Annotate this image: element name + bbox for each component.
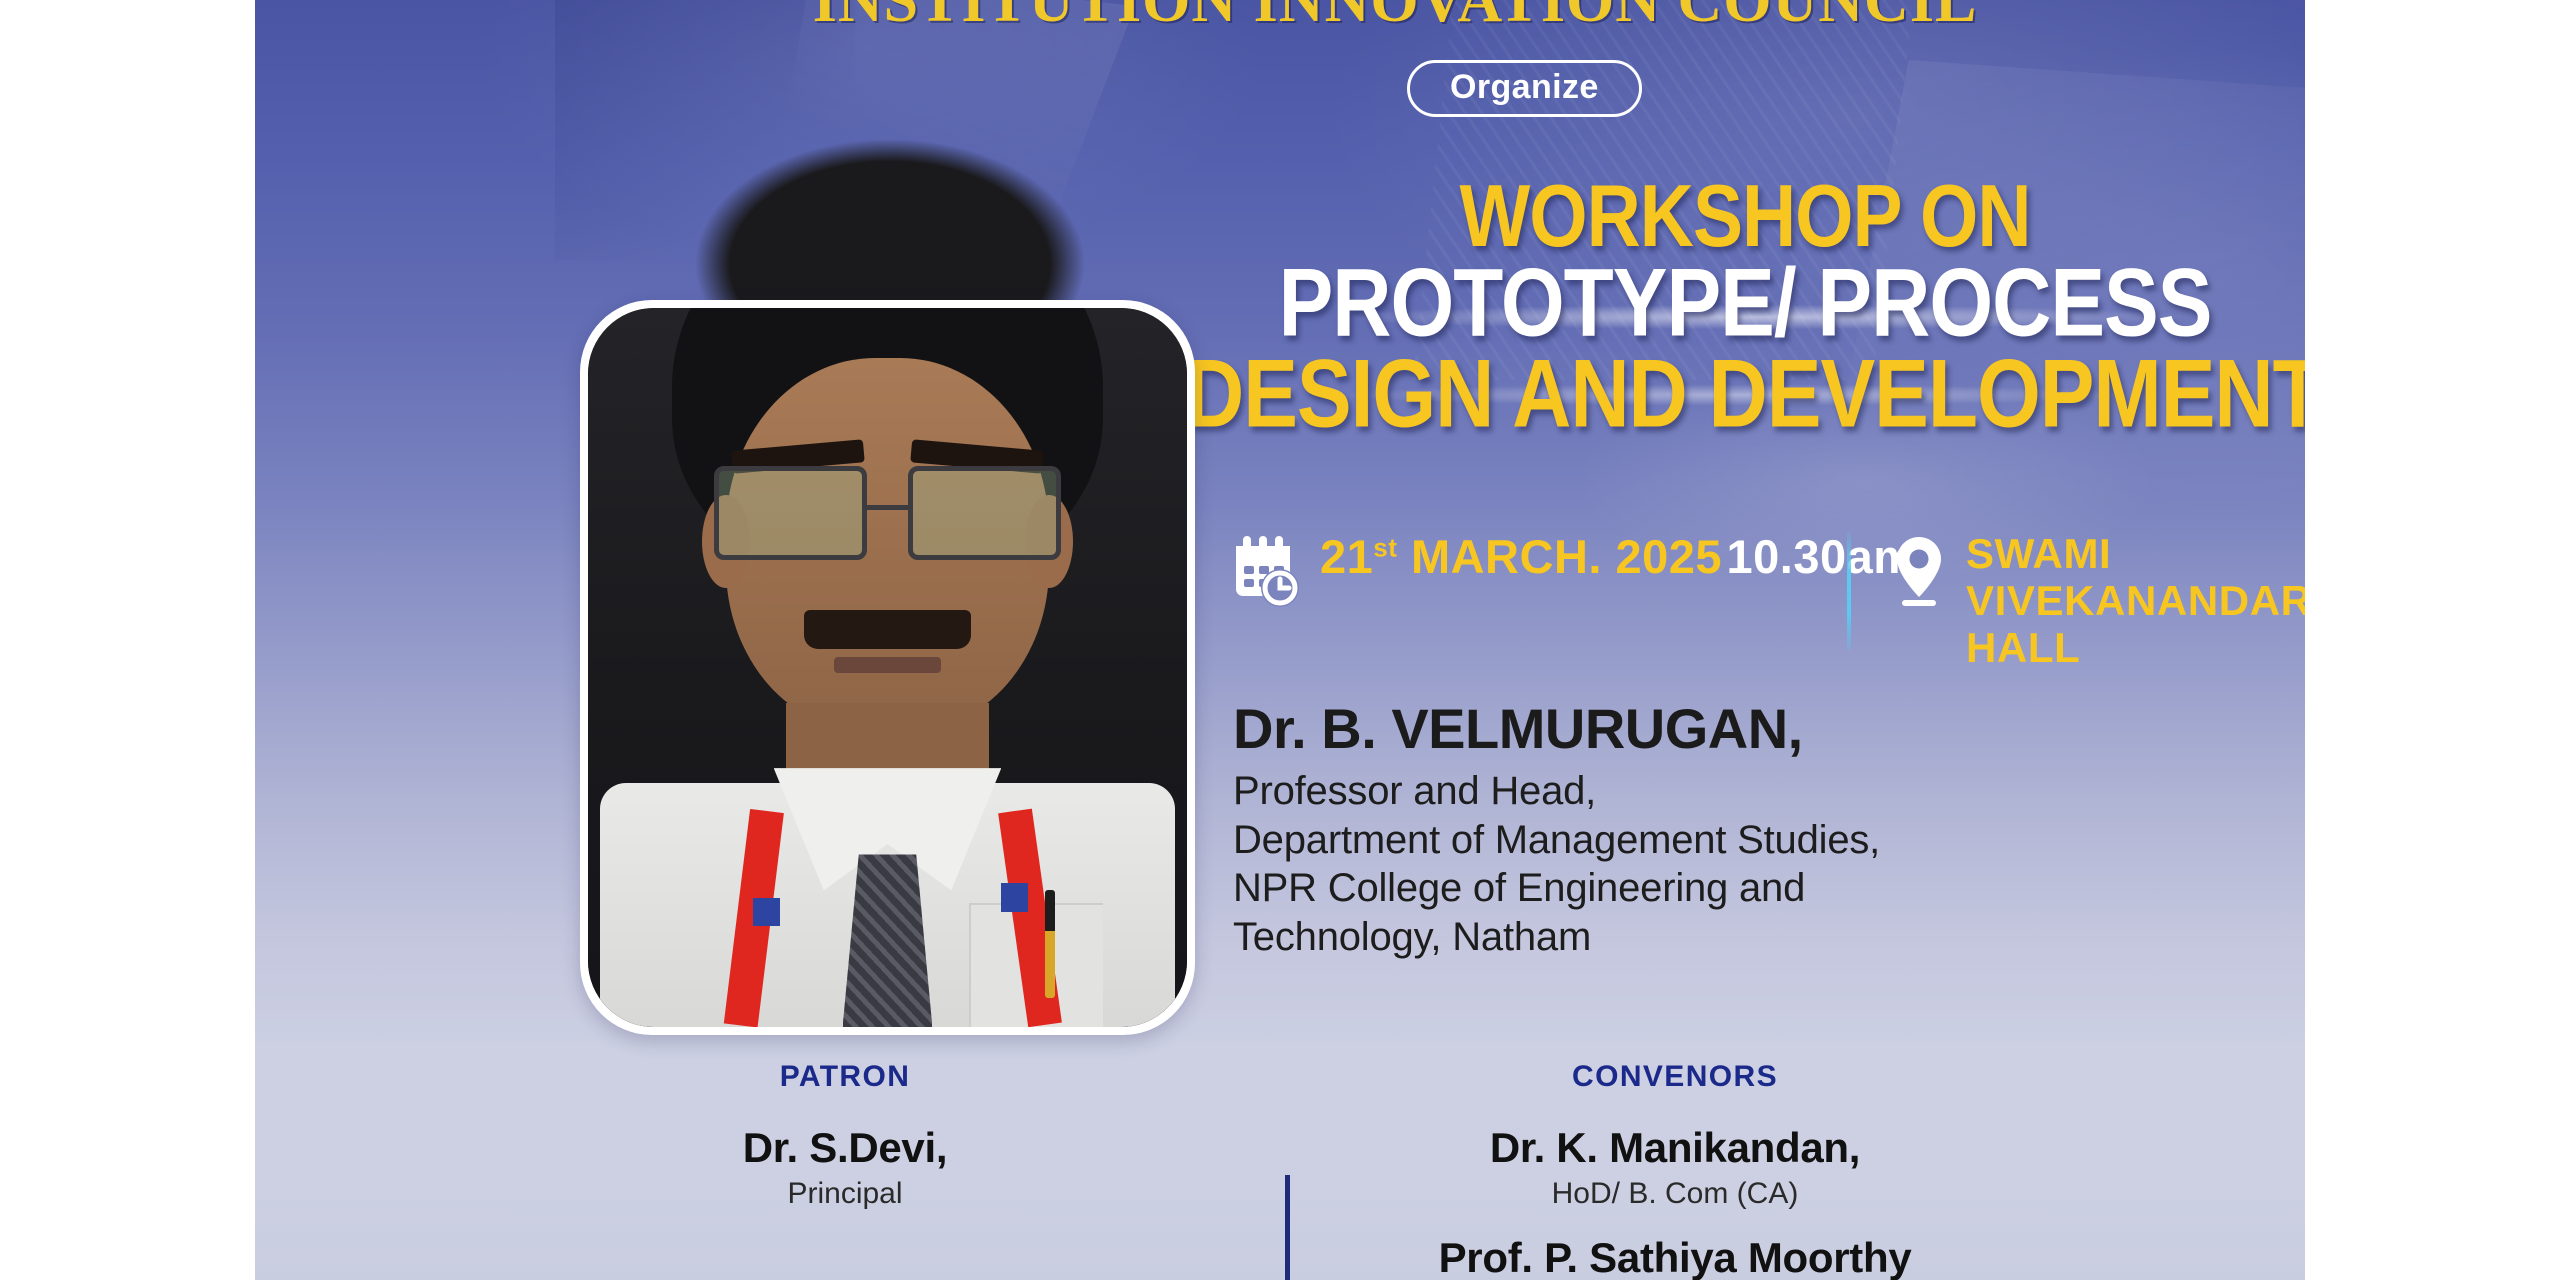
- speaker-photo: [588, 308, 1187, 1027]
- date-line: 21st MARCH. 2025: [1320, 530, 1722, 583]
- calendar-clock-icon: [1230, 534, 1302, 615]
- convenor-name-1: Dr. K. Manikandan,: [1345, 1124, 2005, 1172]
- date-day: 21: [1320, 530, 1373, 583]
- credits-section: PATRON Dr. S.Devi, Principal CONVENORS D…: [255, 1060, 2305, 1280]
- patron-column: PATRON Dr. S.Devi, Principal: [565, 1060, 1125, 1212]
- speaker-institution-line-1: NPR College of Engineering and: [1233, 864, 2283, 913]
- speaker-photo-frame: [580, 300, 1195, 1035]
- venue-text: SWAMI VIVEKANANDAR HALL: [1966, 530, 2305, 671]
- convenor-name-2: Prof. P. Sathiya Moorthy: [1345, 1234, 2005, 1280]
- speaker-block: Dr. B. VELMURUGAN, Professor and Head, D…: [1233, 700, 2283, 962]
- meta-divider: [1847, 532, 1851, 650]
- event-meta-row: 21st MARCH. 2025 10.30am SWAMI VIVEKANAN…: [1230, 530, 2305, 660]
- date-suffix: st: [1373, 532, 1397, 562]
- title-line-3: DESIGN AND DEVELOPMENT: [1185, 350, 2305, 440]
- convenor-role-1: HoD/ B. Com (CA): [1345, 1176, 2005, 1212]
- patron-role: Principal: [565, 1176, 1125, 1212]
- speaker-department: Department of Management Studies,: [1233, 816, 2283, 865]
- location-pin-icon: [1890, 534, 1948, 615]
- speaker-designation: Professor and Head,: [1233, 767, 2283, 816]
- speaker-institution-line-2: Technology, Natham: [1233, 913, 2283, 962]
- title-line-1: WORKSHOP ON: [1185, 175, 2305, 257]
- date-text: 21st MARCH. 2025 10.30am: [1320, 530, 1916, 584]
- convenors-heading: CONVENORS: [1345, 1060, 2005, 1094]
- venue-line-1: SWAMI VIVEKANANDAR: [1966, 530, 2305, 624]
- venue-line-2: HALL: [1966, 624, 2080, 671]
- screenshot-canvas: INSTITUTION INNOVATION COUNCIL Organize …: [0, 0, 2560, 1280]
- convenors-column: CONVENORS Dr. K. Manikandan, HoD/ B. Com…: [1345, 1060, 2005, 1280]
- title-line-2: PROTOTYPE/ PROCESS: [1185, 259, 2305, 349]
- patron-heading: PATRON: [565, 1060, 1125, 1094]
- organize-badge: Organize: [1407, 60, 1642, 117]
- patron-name: Dr. S.Devi,: [565, 1124, 1125, 1172]
- speaker-name: Dr. B. VELMURUGAN,: [1233, 700, 2283, 759]
- event-date-block: 21st MARCH. 2025 10.30am: [1230, 530, 1916, 615]
- credits-divider: [1285, 1175, 1290, 1280]
- event-time: 10.30am: [1727, 530, 1916, 583]
- workshop-title: WORKSHOP ON PROTOTYPE/ PROCESS DESIGN AN…: [1185, 175, 2305, 426]
- date-rest: MARCH. 2025: [1397, 530, 1722, 583]
- council-heading: INSTITUTION INNOVATION COUNCIL: [695, 0, 2095, 37]
- event-venue-block: SWAMI VIVEKANANDAR HALL: [1890, 530, 2305, 671]
